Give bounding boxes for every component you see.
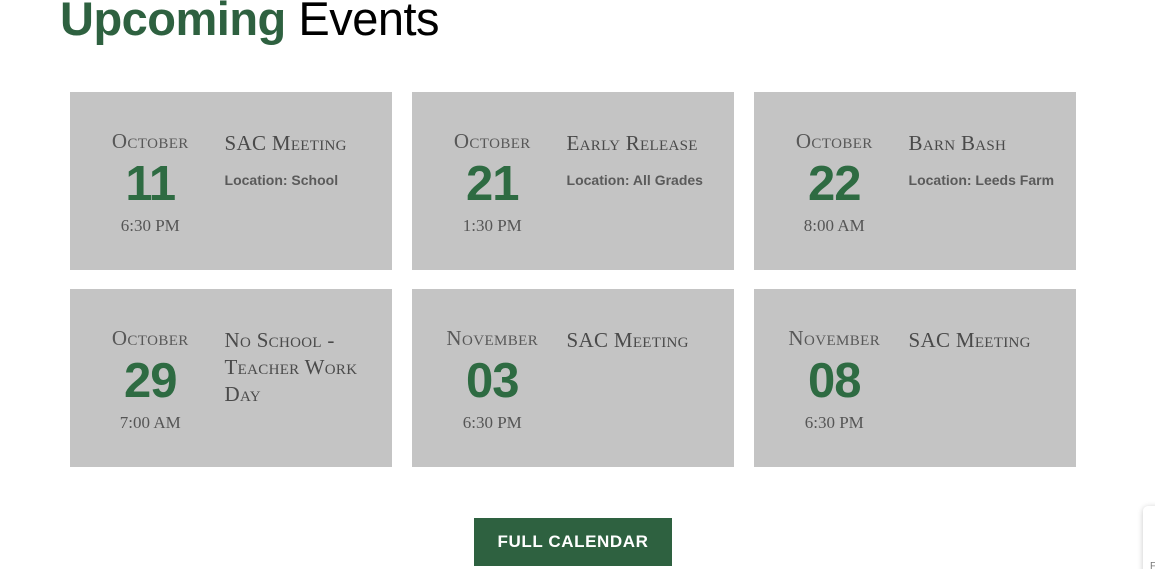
event-title: SAC Meeting <box>567 327 722 354</box>
event-day: 21 <box>418 156 567 212</box>
event-info-column: SAC Meeting <box>909 327 1076 467</box>
event-card[interactable]: October 11 6:30 PM SAC Meeting Location:… <box>70 92 392 270</box>
upcoming-events-page: Upcoming Events October 11 6:30 PM SAC M… <box>0 0 1155 569</box>
event-day: 08 <box>760 353 909 409</box>
event-date-column: October 29 7:00 AM <box>70 327 225 467</box>
event-day: 29 <box>76 353 225 409</box>
event-card[interactable]: November 08 6:30 PM SAC Meeting <box>754 289 1076 467</box>
event-time: 6:30 PM <box>76 216 225 236</box>
event-card[interactable]: October 22 8:00 AM Barn Bash Location: L… <box>754 92 1076 270</box>
event-info-column: SAC Meeting Location: School <box>225 130 392 270</box>
event-location: Location: School <box>225 170 380 190</box>
event-time: 6:30 PM <box>418 413 567 433</box>
event-card[interactable]: October 29 7:00 AM No School - Teacher W… <box>70 289 392 467</box>
event-info-column: Early Release Location: All Grades <box>567 130 734 270</box>
event-info-column: Barn Bash Location: Leeds Farm <box>909 130 1076 270</box>
page-title-accent: Upcoming <box>60 0 286 45</box>
event-day: 11 <box>76 156 225 212</box>
event-date-column: October 22 8:00 AM <box>754 130 909 270</box>
event-time: 1:30 PM <box>418 216 567 236</box>
event-date-column: November 08 6:30 PM <box>754 327 909 467</box>
event-month: November <box>760 327 909 349</box>
floating-widget-label: F <box>1150 561 1155 569</box>
event-title: Early Release <box>567 130 722 157</box>
event-info-column: SAC Meeting <box>567 327 734 467</box>
event-location: Location: All Grades <box>567 170 722 190</box>
event-location: Location: Leeds Farm <box>909 170 1064 190</box>
event-month: November <box>418 327 567 349</box>
event-card[interactable]: November 03 6:30 PM SAC Meeting <box>412 289 734 467</box>
event-month: October <box>76 130 225 152</box>
page-title-rest: Events <box>286 0 439 45</box>
event-month: October <box>760 130 909 152</box>
event-month: October <box>76 327 225 349</box>
event-title: SAC Meeting <box>225 130 380 157</box>
event-time: 7:00 AM <box>76 413 225 433</box>
event-day: 22 <box>760 156 909 212</box>
events-grid: October 11 6:30 PM SAC Meeting Location:… <box>70 92 1077 467</box>
page-title: Upcoming Events <box>60 0 439 50</box>
event-month: October <box>418 130 567 152</box>
event-date-column: October 21 1:30 PM <box>412 130 567 270</box>
full-calendar-button[interactable]: Full Calendar <box>474 518 672 566</box>
event-info-column: No School - Teacher Work Day <box>225 327 392 467</box>
event-date-column: November 03 6:30 PM <box>412 327 567 467</box>
event-date-column: October 11 6:30 PM <box>70 130 225 270</box>
event-day: 03 <box>418 353 567 409</box>
event-time: 8:00 AM <box>760 216 909 236</box>
event-card[interactable]: October 21 1:30 PM Early Release Locatio… <box>412 92 734 270</box>
event-title: SAC Meeting <box>909 327 1064 354</box>
event-title: No School - Teacher Work Day <box>225 327 380 408</box>
event-title: Barn Bash <box>909 130 1064 157</box>
floating-widget[interactable]: F <box>1143 506 1155 569</box>
event-time: 6:30 PM <box>760 413 909 433</box>
